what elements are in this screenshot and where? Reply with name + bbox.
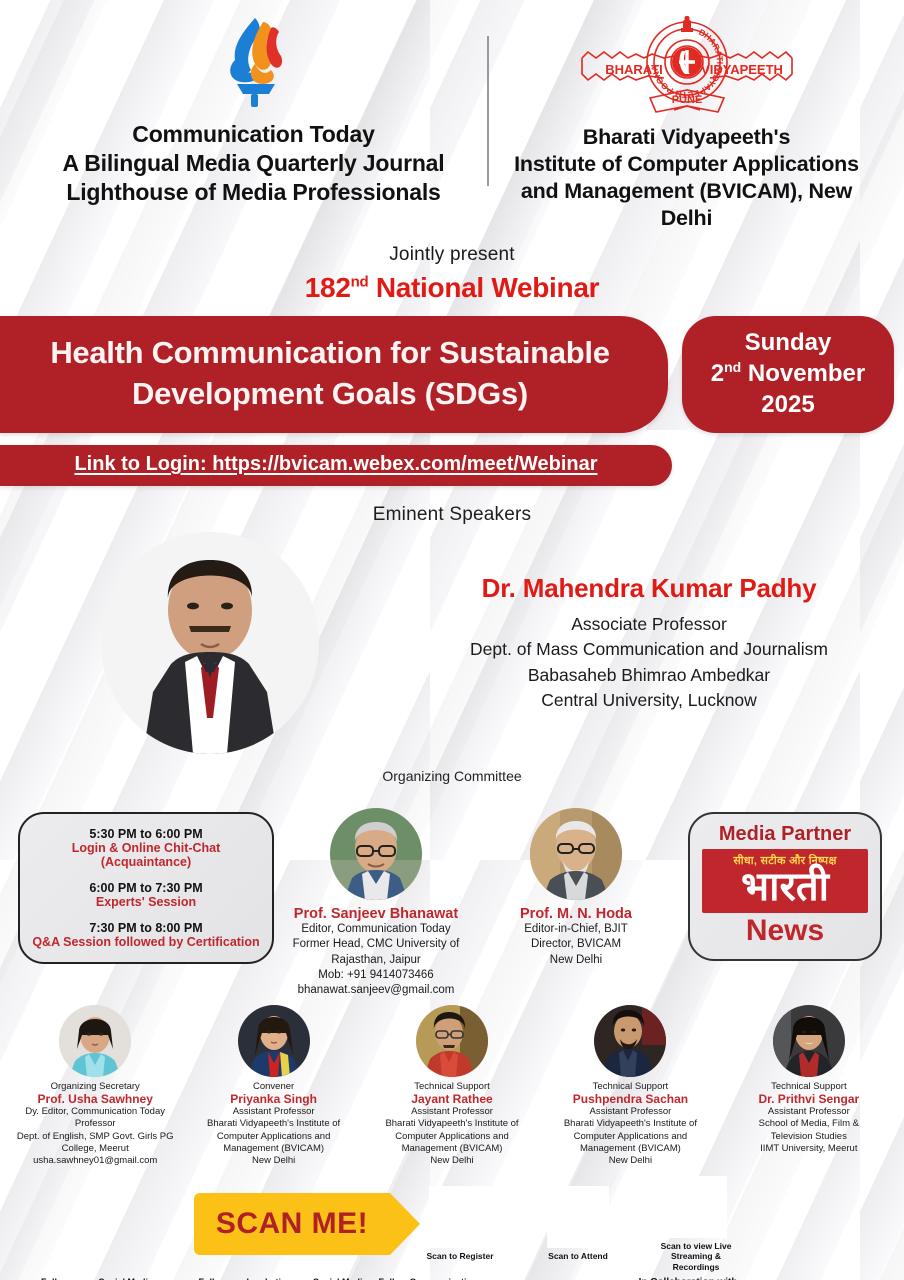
media-partner-brand-hindi: भारती [712, 867, 858, 907]
poster-header: Communication Today A Bilingual Media Qu… [0, 0, 904, 232]
committee-portrait-illustration [330, 808, 422, 900]
ct-line1: Communication Today [63, 120, 445, 149]
date-day: Sunday [745, 329, 832, 356]
organizer-role: Technical Support [723, 1081, 895, 1092]
organizer-pushpendra-sachan: Technical Support Pushpendra Sachan Assi… [541, 1005, 719, 1168]
organizer-role: Technical Support [544, 1081, 716, 1092]
collaboration-line: In Collaboration with [478, 1277, 898, 1280]
media-partner-card: Media Partner सीधा, सटीक और निष्पक्ष भार… [688, 812, 882, 961]
scan-me-banner: SCAN ME! [194, 1193, 390, 1255]
schedule-desc-3: Q&A Session followed by Certification [30, 935, 262, 949]
committee-member-mn-hoda: Prof. M. N. Hoda Editor-in-Chief, BJIT D… [478, 790, 674, 968]
header-divider [487, 36, 489, 186]
bharati-news-logo: सीधा, सटीक और निष्पक्ष भारती [702, 849, 868, 913]
date-number-suffix: nd [724, 359, 741, 375]
communication-today-title: Communication Today A Bilingual Media Qu… [63, 120, 445, 206]
organizing-committee-label: Organizing Committee [0, 768, 904, 784]
committee-member-sanjeev-bhanawat: Prof. Sanjeev Bhanawat Editor, Communica… [278, 790, 474, 998]
login-link-url[interactable]: https://bvicam.webex.com/meet/Webinar [212, 453, 597, 475]
committee-name: Prof. M. N. Hoda [478, 906, 674, 922]
organizer-detail: Assistant Professor School of Media, Fil… [723, 1106, 895, 1155]
date-year: 2025 [761, 391, 814, 418]
organizer-role: Technical Support [366, 1081, 538, 1092]
organizer-name: Jayant Rathee [366, 1092, 538, 1106]
bvicam-title: Bharati Vidyapeeth's Institute of Comput… [495, 124, 878, 232]
header-right-block: BHARATI VIDYAPEETH PUNE BHARATI VIDYAPEE… [495, 14, 878, 232]
header-left-block: Communication Today A Bilingual Media Qu… [26, 14, 481, 232]
qr-attend[interactable]: Scan to Attend [530, 1186, 626, 1262]
avatar [594, 1005, 666, 1077]
qr-caption: Scan to view Live Streaming & Recordings [648, 1241, 744, 1273]
qr-caption: Scan to Attend [530, 1251, 626, 1262]
date-month: November [741, 360, 865, 387]
eminent-speakers-label: Eminent Speakers [0, 504, 904, 526]
organizer-detail: Assistant Professor Bharati Vidyapeeth's… [544, 1106, 716, 1168]
webinar-title-banner: Health Communication for Sustainable Dev… [0, 316, 668, 434]
webinar-poster: Communication Today A Bilingual Media Qu… [0, 0, 904, 1280]
webinar-number: 182 [305, 272, 351, 303]
committee-name: Prof. Sanjeev Bhanawat [278, 906, 474, 922]
qr-register[interactable]: Scan to Register [412, 1186, 508, 1262]
media-partner-title: Media Partner [702, 823, 868, 846]
schedule-time-2: 6:00 PM to 7:30 PM [30, 881, 262, 895]
avatar [330, 808, 422, 900]
organizer-jayant-rathee: Technical Support Jayant Rathee Assistan… [363, 1005, 541, 1168]
footer-headings: Follow us on Social Media Follow our Inc… [6, 1277, 898, 1280]
avatar [530, 808, 622, 900]
avatar [238, 1005, 310, 1077]
organizer-usha-sawhney: Organizing Secretary Prof. Usha Sawhney … [6, 1005, 184, 1168]
media-partner-brand-en: News [702, 915, 868, 947]
login-link-label: Link to Login: [74, 453, 212, 475]
poster-footer: Follow us on Social Media Follow our Inc… [0, 1273, 904, 1280]
speaker-photo-wrap [0, 532, 420, 754]
collaboration-label: In Collaboration with [639, 1277, 738, 1280]
organizer-portrait-illustration [594, 1005, 666, 1077]
qr-live-streaming[interactable]: Scan to view Live Streaming & Recordings [648, 1176, 744, 1273]
speaker-name: Dr. Mahendra Kumar Padhy [420, 573, 878, 604]
organizer-detail: Assistant Professor Bharati Vidyapeeth's… [187, 1106, 359, 1168]
date-number: 2 [711, 360, 724, 387]
qr-code-icon[interactable] [665, 1176, 727, 1238]
schedule-box: 5:30 PM to 6:00 PM Login & Online Chit-C… [18, 812, 274, 964]
organizer-name: Prof. Usha Sawhney [9, 1092, 181, 1106]
committee-portrait-illustration [530, 808, 622, 900]
organizer-portrait-illustration [59, 1005, 131, 1077]
organizer-name: Dr. Prithvi Sengar [723, 1092, 895, 1106]
collaboration-heading-wrap: In Collaboration with [478, 1277, 898, 1280]
follow-comm-today-heading: Follow Communication Today on Social Med… [378, 1277, 478, 1280]
ct-line3: Lighthouse of Media Professionals [63, 178, 445, 207]
speaker-designation: Associate Professor [420, 612, 878, 637]
schedule-time-1: 5:30 PM to 6:00 PM [30, 827, 262, 841]
speaker-department: Dept. of Mass Communication and Journali… [420, 637, 878, 662]
webinar-number-rest: National Webinar [368, 272, 599, 303]
organizer-name: Priyanka Singh [187, 1092, 359, 1106]
organizer-name: Pushpendra Sachan [544, 1092, 716, 1106]
schedule-desc-2: Experts' Session [30, 895, 262, 909]
organizer-portrait-illustration [773, 1005, 845, 1077]
date-badge: Sunday 2nd November 2025 [682, 316, 894, 434]
avatar [773, 1005, 845, 1077]
schedule-time-3: 7:30 PM to 8:00 PM [30, 921, 262, 935]
speaker-portrait-illustration [101, 532, 319, 754]
speaker-photo [101, 532, 319, 754]
communication-today-torch-logo [215, 14, 293, 110]
organizer-role: Organizing Secretary [9, 1081, 181, 1092]
organizing-committee-row: 5:30 PM to 6:00 PM Login & Online Chit-C… [0, 784, 904, 998]
jointly-present-label: Jointly present [0, 244, 904, 266]
qr-code-icon[interactable] [547, 1186, 609, 1248]
speaker-info: Dr. Mahendra Kumar Padhy Associate Profe… [420, 573, 904, 714]
avatar [416, 1005, 488, 1077]
bv-line2: Institute of Computer Applications [495, 151, 878, 178]
schedule-desc-1: Login & Online Chit-Chat (Acquaintance) [30, 841, 262, 869]
title-banner-row: Health Communication for Sustainable Dev… [0, 316, 904, 434]
bharati-vidyapeeth-logo: BHARATI VIDYAPEETH PUNE BHARATI VIDYAPEE… [578, 14, 796, 118]
committee-detail: Editor, Communication Today Former Head,… [278, 922, 474, 998]
speaker-institute-1: Babasaheb Bhimrao Ambedkar [420, 663, 878, 688]
organizer-portrait-illustration [238, 1005, 310, 1077]
bv-line3: and Management (BVICAM), New Delhi [495, 178, 878, 232]
qr-caption: Scan to Register [412, 1251, 508, 1262]
login-link-bar[interactable]: Link to Login: https://bvicam.webex.com/… [0, 445, 672, 486]
bv-line1: Bharati Vidyapeeth's [495, 124, 878, 151]
organizer-detail: Dy. Editor, Communication Today Professo… [9, 1106, 181, 1168]
organizer-portrait-illustration [416, 1005, 488, 1077]
organizer-detail: Assistant Professor Bharati Vidyapeeth's… [366, 1106, 538, 1168]
organizers-row: Organizing Secretary Prof. Usha Sawhney … [0, 999, 904, 1168]
ct-line2: A Bilingual Media Quarterly Journal [63, 149, 445, 178]
scan-row: SCAN ME! Scan to Register Scan to Attend… [0, 1168, 904, 1273]
webinar-number-suffix: nd [351, 273, 369, 290]
qr-code-icon[interactable] [429, 1186, 491, 1248]
avatar [59, 1005, 131, 1077]
follow-incubations-heading: Follow our Incubations on Social Media [188, 1277, 378, 1280]
organizer-priyanka-singh: Convener Priyanka Singh Assistant Profes… [184, 1005, 362, 1168]
webinar-number-heading: 182nd National Webinar [0, 272, 904, 304]
speaker-row: Dr. Mahendra Kumar Padhy Associate Profe… [0, 532, 904, 754]
follow-us-heading: Follow us on Social Media [6, 1277, 188, 1280]
organizer-prithvi-sengar: Technical Support Dr. Prithvi Sengar Ass… [720, 1005, 898, 1168]
speaker-institute-2: Central University, Lucknow [420, 688, 878, 713]
organizer-role: Convener [187, 1081, 359, 1092]
committee-detail: Editor-in-Chief, BJIT Director, BVICAM N… [478, 922, 674, 968]
